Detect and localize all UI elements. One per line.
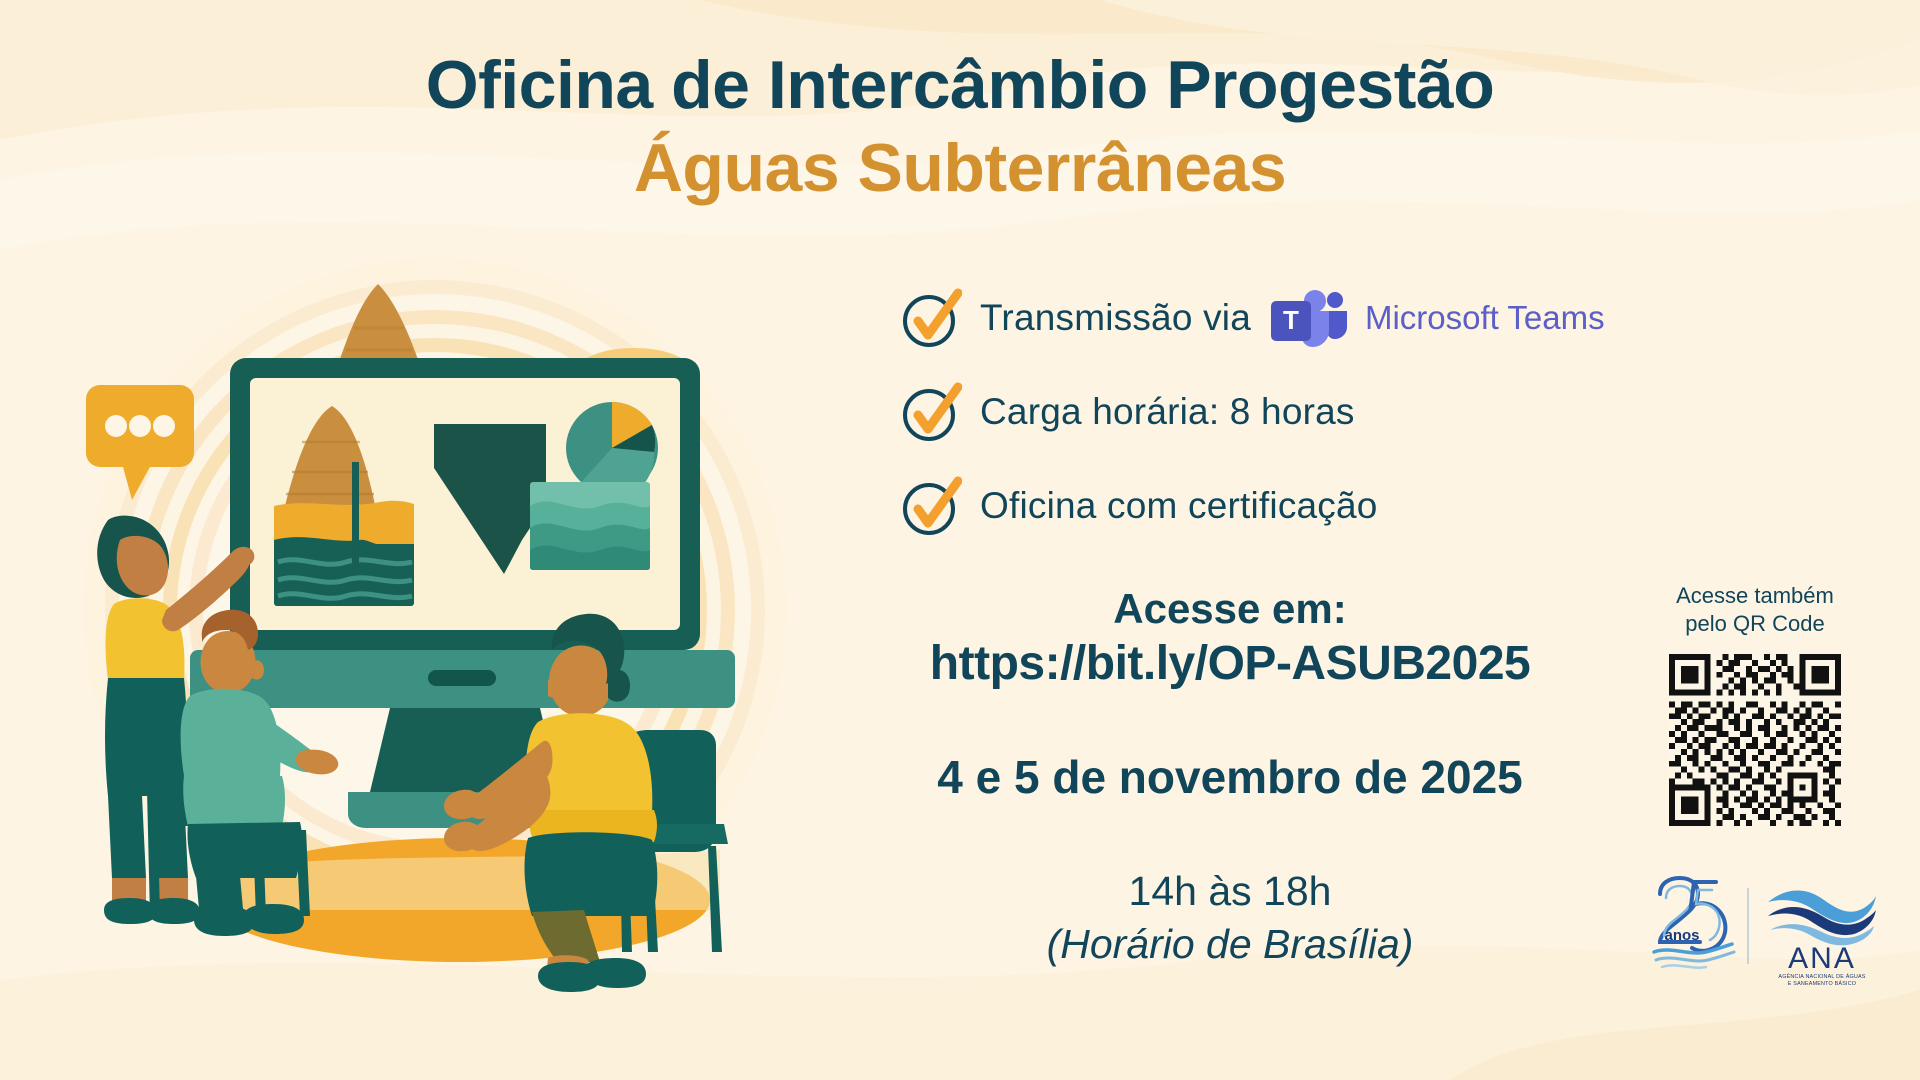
list-item: Oficina com certificação	[900, 468, 1600, 544]
ana-logo: ANA AGÊNCIA NACIONAL DE ÁGUAS E SANEAMEN…	[1768, 891, 1876, 988]
check-circle-icon	[900, 287, 962, 349]
title-line-primary: Oficina de Intercâmbio Progestão	[0, 48, 1920, 123]
event-time: 14h às 18h	[900, 866, 1560, 917]
feature-label: Oficina com certificação	[980, 485, 1378, 527]
qr-caption-line2: pelo QR Code	[1685, 611, 1824, 636]
event-time-block: 14h às 18h (Horário de Brasília)	[900, 866, 1560, 971]
qr-code-image[interactable]	[1669, 654, 1841, 826]
access-url[interactable]: https://bit.ly/OP-ASUB2025	[900, 634, 1560, 694]
list-item: Carga horária: 8 horas	[900, 374, 1600, 450]
feature-label: Carga horária: 8 horas	[980, 391, 1355, 433]
wave-layers-chart	[530, 482, 650, 570]
access-block: Acesse em: https://bit.ly/OP-ASUB2025	[900, 584, 1560, 694]
ana-tagline-line2: E SANEAMENTO BÁSICO	[1788, 980, 1856, 987]
aquifer-cross-section-chart	[274, 396, 414, 606]
microsoft-teams-logo: T Microsoft Teams	[1265, 287, 1605, 349]
list-item: Transmissão via T Microsoft Teams	[900, 280, 1600, 356]
logo-block: anos ANA AGÊNCIA NACIONAL DE ÁGUAS E SAN…	[1636, 868, 1886, 988]
check-circle-icon	[900, 381, 962, 443]
svg-text:T: T	[1283, 305, 1299, 335]
qr-code-block: Acesse também pelo QR Code	[1640, 582, 1870, 826]
feature-label: Transmissão via	[980, 297, 1251, 339]
event-timezone: (Horário de Brasília)	[900, 918, 1560, 971]
promotional-banner: Oficina de Intercâmbio Progestão Águas S…	[0, 0, 1920, 1080]
ana-acronym: ANA	[1788, 942, 1856, 975]
content-column: Transmissão via T Microsoft Teams	[900, 280, 1600, 971]
groundwater-workshop-illustration	[60, 210, 880, 1000]
qr-caption: Acesse também pelo QR Code	[1640, 582, 1870, 638]
qr-caption-line1: Acesse também	[1676, 583, 1834, 608]
check-circle-icon	[900, 475, 962, 537]
access-label: Acesse em:	[900, 584, 1560, 634]
feature-list: Transmissão via T Microsoft Teams	[900, 280, 1600, 544]
event-date: 4 e 5 de novembro de 2025	[900, 750, 1560, 804]
anniversary-label: anos	[1664, 927, 1699, 944]
anniversary-25-logo: anos	[1654, 878, 1734, 968]
title-line-secondary: Águas Subterrâneas	[0, 129, 1920, 207]
teams-wordmark: Microsoft Teams	[1365, 299, 1605, 337]
ana-tagline-line1: AGÊNCIA NACIONAL DE ÁGUAS	[1778, 972, 1865, 980]
page-title: Oficina de Intercâmbio Progestão Águas S…	[0, 48, 1920, 207]
